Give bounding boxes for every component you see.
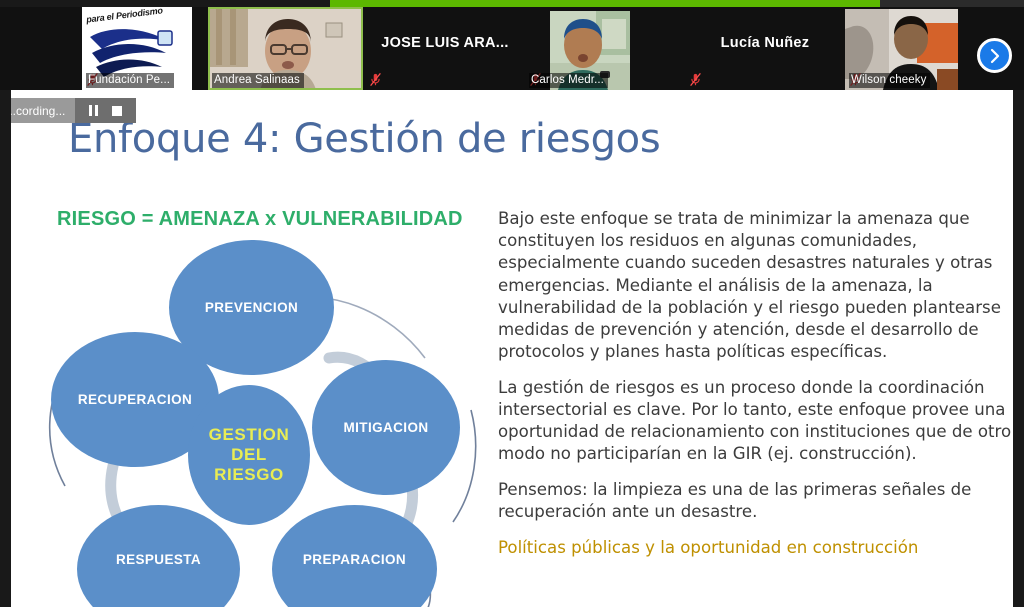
active-speaker-bar: [330, 0, 880, 7]
participant-name: Andrea Salinaas: [212, 73, 304, 88]
mic-muted-icon: [369, 72, 382, 87]
participant-tile-wilson-cheeky[interactable]: Wilson cheeky: [845, 7, 975, 90]
slide-title: Enfoque 4: Gestión de riesgos: [68, 116, 660, 162]
slide-body-text: Bajo este enfoque se trata de minimizar …: [498, 208, 1013, 572]
participant-name: Lucía Nuñez: [685, 35, 845, 51]
risk-management-cycle-diagram: PREVENCION RECUPERACION MITIGACION GESTI…: [29, 240, 489, 607]
chevron-right-icon: [988, 48, 1002, 64]
next-participants-page-button[interactable]: [977, 38, 1012, 73]
risk-formula: RIESGO = AMENAZA x VULNERABILIDAD: [57, 208, 463, 231]
participant-tile-lucia-nunez[interactable]: Lucía Nuñez: [685, 7, 845, 90]
diagram-node-label: PREPARACION: [303, 552, 406, 568]
participant-name: Wilson cheeky: [849, 73, 930, 88]
recording-bar: ...cording...: [11, 98, 136, 123]
diagram-center-label: GESTION DEL RIESGO: [209, 425, 290, 485]
participant-tile-fundacion[interactable]: para el Periodismo Fundación Pe...: [82, 7, 192, 90]
diagram-node-mitigacion: MITIGACION: [312, 360, 460, 495]
paragraph-accent: Políticas públicas y la oportunidad en c…: [498, 537, 1013, 559]
mic-muted-icon: [689, 72, 702, 87]
diagram-node-label: PREVENCION: [205, 300, 298, 316]
diagram-node-label: MITIGACION: [344, 420, 429, 436]
participant-name: Carlos Medr...: [529, 73, 608, 88]
pause-recording-icon[interactable]: [89, 105, 98, 116]
participant-tile-andrea-salinaas[interactable]: Andrea Salinaas: [208, 7, 363, 90]
participant-filmstrip: para el Periodismo Fundación Pe...: [0, 7, 1024, 90]
stop-recording-icon[interactable]: [112, 106, 122, 116]
top-bar-filler: [880, 0, 1024, 7]
diagram-node-label: RECUPERACION: [78, 392, 192, 408]
diagram-node-label: RESPUESTA: [116, 552, 201, 568]
participant-name: JOSE LUIS ARA...: [365, 35, 525, 51]
zoom-meeting-screen: para el Periodismo Fundación Pe...: [0, 0, 1024, 607]
recording-controls: [75, 98, 136, 123]
recording-status-label: ...cording...: [11, 104, 75, 118]
paragraph-3: Pensemos: la limpieza es una de las prim…: [498, 479, 1013, 523]
diagram-node-center-gestion-del-riesgo: GESTION DEL RIESGO: [188, 385, 310, 525]
participant-tile-carlos-medrano[interactable]: Carlos Medr...: [525, 7, 685, 90]
participant-tile-jose-luis[interactable]: JOSE LUIS ARA...: [365, 7, 525, 90]
paragraph-1: Bajo este enfoque se trata de minimizar …: [498, 208, 1013, 364]
participant-name: Fundación Pe...: [86, 73, 174, 88]
paragraph-2: La gestión de riesgos es un proceso dond…: [498, 377, 1013, 466]
shared-slide: ...cording... Enfoque 4: Gestión de ries…: [11, 90, 1013, 607]
